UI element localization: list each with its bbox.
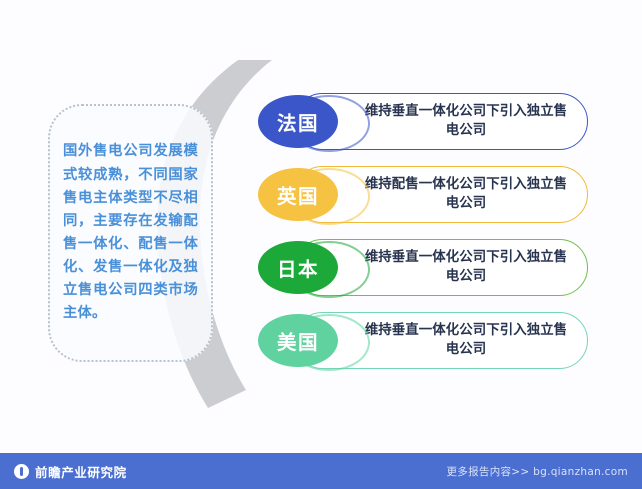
row-description: 维持垂直一体化公司下引入独立售电公司 xyxy=(360,322,572,359)
row-description: 维持垂直一体化公司下引入独立售电公司 xyxy=(360,249,572,286)
footer-bar: 前瞻产业研究院 更多报告内容>> bg.qianzhan.com xyxy=(0,453,642,489)
footer-more-link[interactable]: 更多报告内容>> bg.qianzhan.com xyxy=(447,464,629,479)
country-label: 法国 xyxy=(277,107,319,136)
footer-brand-group: 前瞻产业研究院 xyxy=(14,462,127,481)
country-label: 英国 xyxy=(277,180,319,209)
footer-brand-name: 前瞻产业研究院 xyxy=(35,462,127,481)
country-pill[interactable]: 日本 xyxy=(258,241,338,294)
table-row[interactable]: 维持垂直一体化公司下引入独立售电公司 日本 xyxy=(258,239,588,296)
country-pill[interactable]: 美国 xyxy=(258,314,338,367)
slide-canvas: 国外售电公司发展模式较成熟，不同国家售电主体类型不尽相同，主要存在发输配售一体化… xyxy=(0,0,642,489)
country-rows-list: 维持垂直一体化公司下引入独立售电公司 法国 维持配售一体化公司下引入独立售电公司… xyxy=(258,90,588,390)
summary-text: 国外售电公司发展模式较成熟，不同国家售电主体类型不尽相同，主要存在发输配售一体化… xyxy=(63,140,198,325)
country-label: 日本 xyxy=(277,253,319,282)
table-row[interactable]: 维持垂直一体化公司下引入独立售电公司 美国 xyxy=(258,312,588,369)
table-row[interactable]: 维持垂直一体化公司下引入独立售电公司 法国 xyxy=(258,93,588,150)
row-description: 维持垂直一体化公司下引入独立售电公司 xyxy=(360,103,572,140)
qianzhan-circle-logo-icon xyxy=(14,464,29,479)
country-label: 美国 xyxy=(277,326,319,355)
row-description: 维持配售一体化公司下引入独立售电公司 xyxy=(360,176,572,213)
summary-box: 国外售电公司发展模式较成熟，不同国家售电主体类型不尽相同，主要存在发输配售一体化… xyxy=(48,104,213,362)
country-pill[interactable]: 英国 xyxy=(258,168,338,221)
table-row[interactable]: 维持配售一体化公司下引入独立售电公司 英国 xyxy=(258,166,588,223)
country-pill[interactable]: 法国 xyxy=(258,95,338,148)
